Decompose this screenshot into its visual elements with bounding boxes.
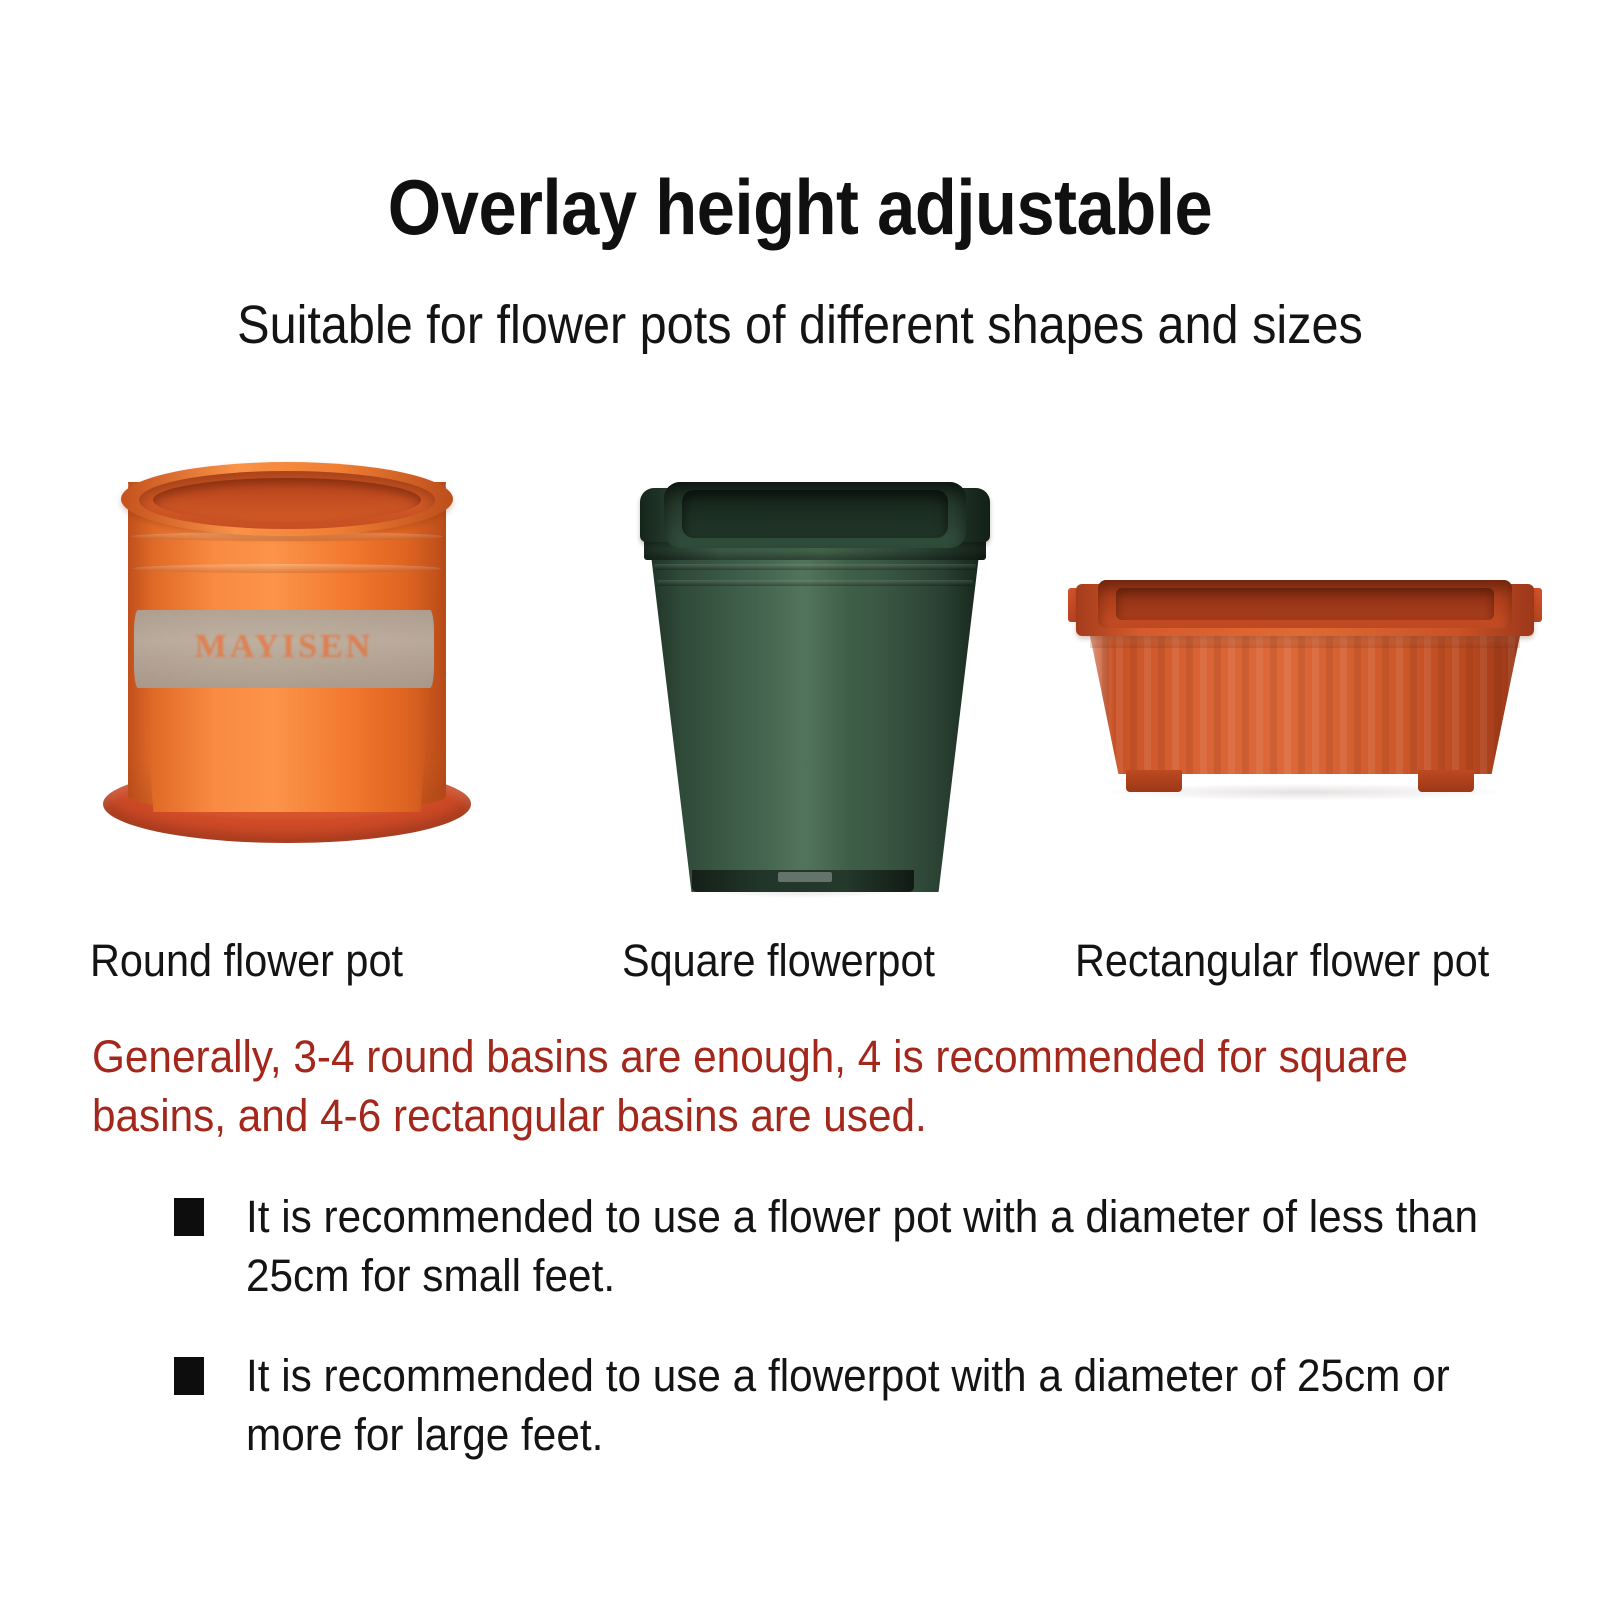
page-subtitle: Suitable for flower pots of different sh… [80, 298, 1520, 352]
square-pot-ridge [657, 580, 973, 586]
page-title: Overlay height adjustable [96, 168, 1504, 246]
square-pot-interior [682, 490, 948, 538]
square-pot-drain-vent [778, 872, 832, 882]
rect-planter-figure [1060, 440, 1550, 920]
list-item: It is recommended to use a flowerpot wit… [168, 1347, 1568, 1464]
square-pot-ridge [654, 564, 976, 570]
round-pot-interior [153, 478, 421, 522]
rect-planter-foot [1126, 770, 1182, 792]
caption-rectangular-flower-pot: Rectangular flower pot [1075, 938, 1489, 983]
rect-planter-foot [1418, 770, 1474, 792]
list-item-text: It is recommended to use a flower pot wi… [246, 1188, 1489, 1305]
round-pot-rib [133, 564, 441, 573]
round-pot-label-band: MAYISEN [134, 610, 434, 688]
square-flowerpot-image [630, 440, 1000, 920]
recommendation-list: It is recommended to use a flower pot wi… [168, 1188, 1568, 1506]
rect-planter-interior [1116, 588, 1494, 620]
product-caption-row: Round flower pot Square flowerpot Rectan… [0, 938, 1600, 998]
rectangular-flower-pot-image [1060, 440, 1550, 920]
quantity-recommendation-notice: Generally, 3-4 round basins are enough, … [92, 1028, 1427, 1145]
square-bullet-icon [174, 1357, 204, 1395]
square-bullet-icon [174, 1198, 204, 1236]
product-image-row: MAYISEN [0, 440, 1600, 920]
caption-round-flower-pot: Round flower pot [90, 938, 403, 983]
caption-square-flowerpot: Square flowerpot [622, 938, 935, 983]
list-item-text: It is recommended to use a flowerpot wit… [246, 1347, 1489, 1464]
list-item: It is recommended to use a flower pot wi… [168, 1188, 1568, 1305]
round-flower-pot-image: MAYISEN [95, 440, 480, 920]
square-pot-figure [630, 440, 1000, 920]
round-pot-figure: MAYISEN [95, 440, 480, 920]
rect-planter-fluting [1088, 626, 1522, 774]
round-pot-brand-text: MAYISEN [134, 628, 434, 666]
